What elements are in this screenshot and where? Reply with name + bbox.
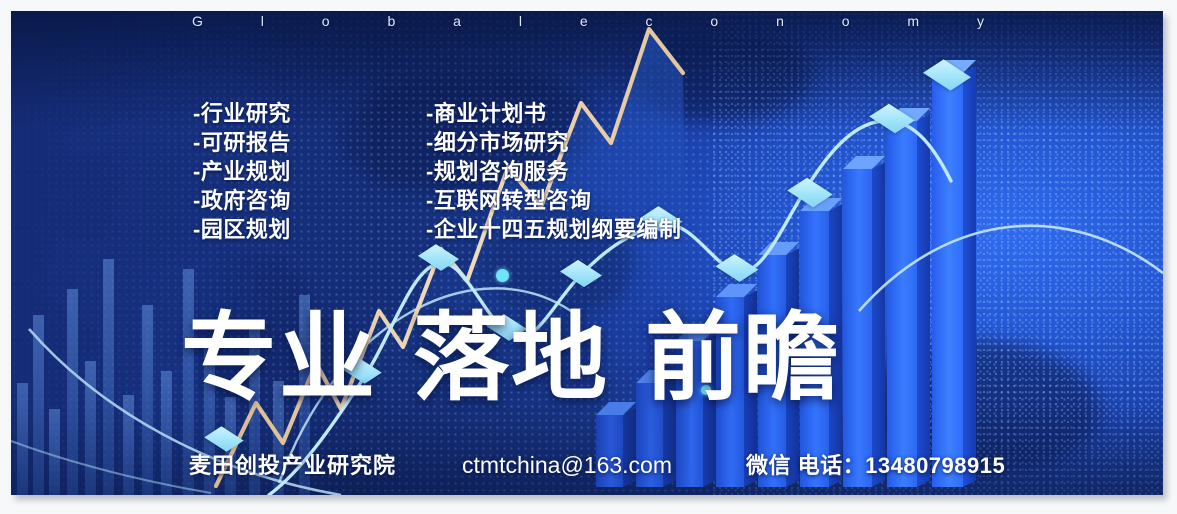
service-item: -商业计划书	[426, 99, 681, 128]
service-item: -可研报告	[193, 128, 291, 157]
email-address[interactable]: ctmtchina@163.com	[462, 452, 672, 478]
top-banner-strip: G l o b a l e c o n o m y	[83, 13, 1093, 29]
headline-word-1: 专业	[181, 305, 377, 412]
service-item: -企业十四五规划纲要编制	[426, 215, 681, 244]
data-point-dot	[496, 269, 509, 282]
line-chart-overlay	[11, 11, 1163, 495]
service-item: -规划咨询服务	[426, 157, 681, 186]
service-item: -园区规划	[193, 215, 291, 244]
headline-word-2: 落地	[413, 305, 609, 412]
footer-contact-row: 麦田创投产业研究院ctmtchina@163.com微信 电话：13480798…	[189, 448, 1089, 482]
service-list-column-1: -行业研究 -可研报告 -产业规划 -政府咨询 -园区规划	[193, 99, 291, 244]
headline-slogan: 专业落地前瞻	[181, 307, 841, 411]
service-item: -细分市场研究	[426, 128, 681, 157]
service-item: -产业规划	[193, 157, 291, 186]
company-name: 麦田创投产业研究院	[189, 453, 396, 478]
service-item: -互联网转型咨询	[426, 186, 681, 215]
background-arc-right	[859, 226, 1163, 311]
phone-contact: 微信 电话：13480798915	[746, 453, 1005, 478]
service-item: -政府咨询	[193, 186, 291, 215]
background-arc-tail	[11, 441, 211, 493]
banner-frame: G l o b a l e c o n o m y -行业研究 -可研报告 -产…	[11, 11, 1163, 495]
headline-word-3: 前瞻	[645, 305, 841, 412]
service-item: -行业研究	[193, 99, 291, 128]
banner-root: G l o b a l e c o n o m y -行业研究 -可研报告 -产…	[0, 0, 1177, 514]
service-list-column-2: -商业计划书 -细分市场研究 -规划咨询服务 -互联网转型咨询 -企业十四五规划…	[426, 99, 681, 244]
